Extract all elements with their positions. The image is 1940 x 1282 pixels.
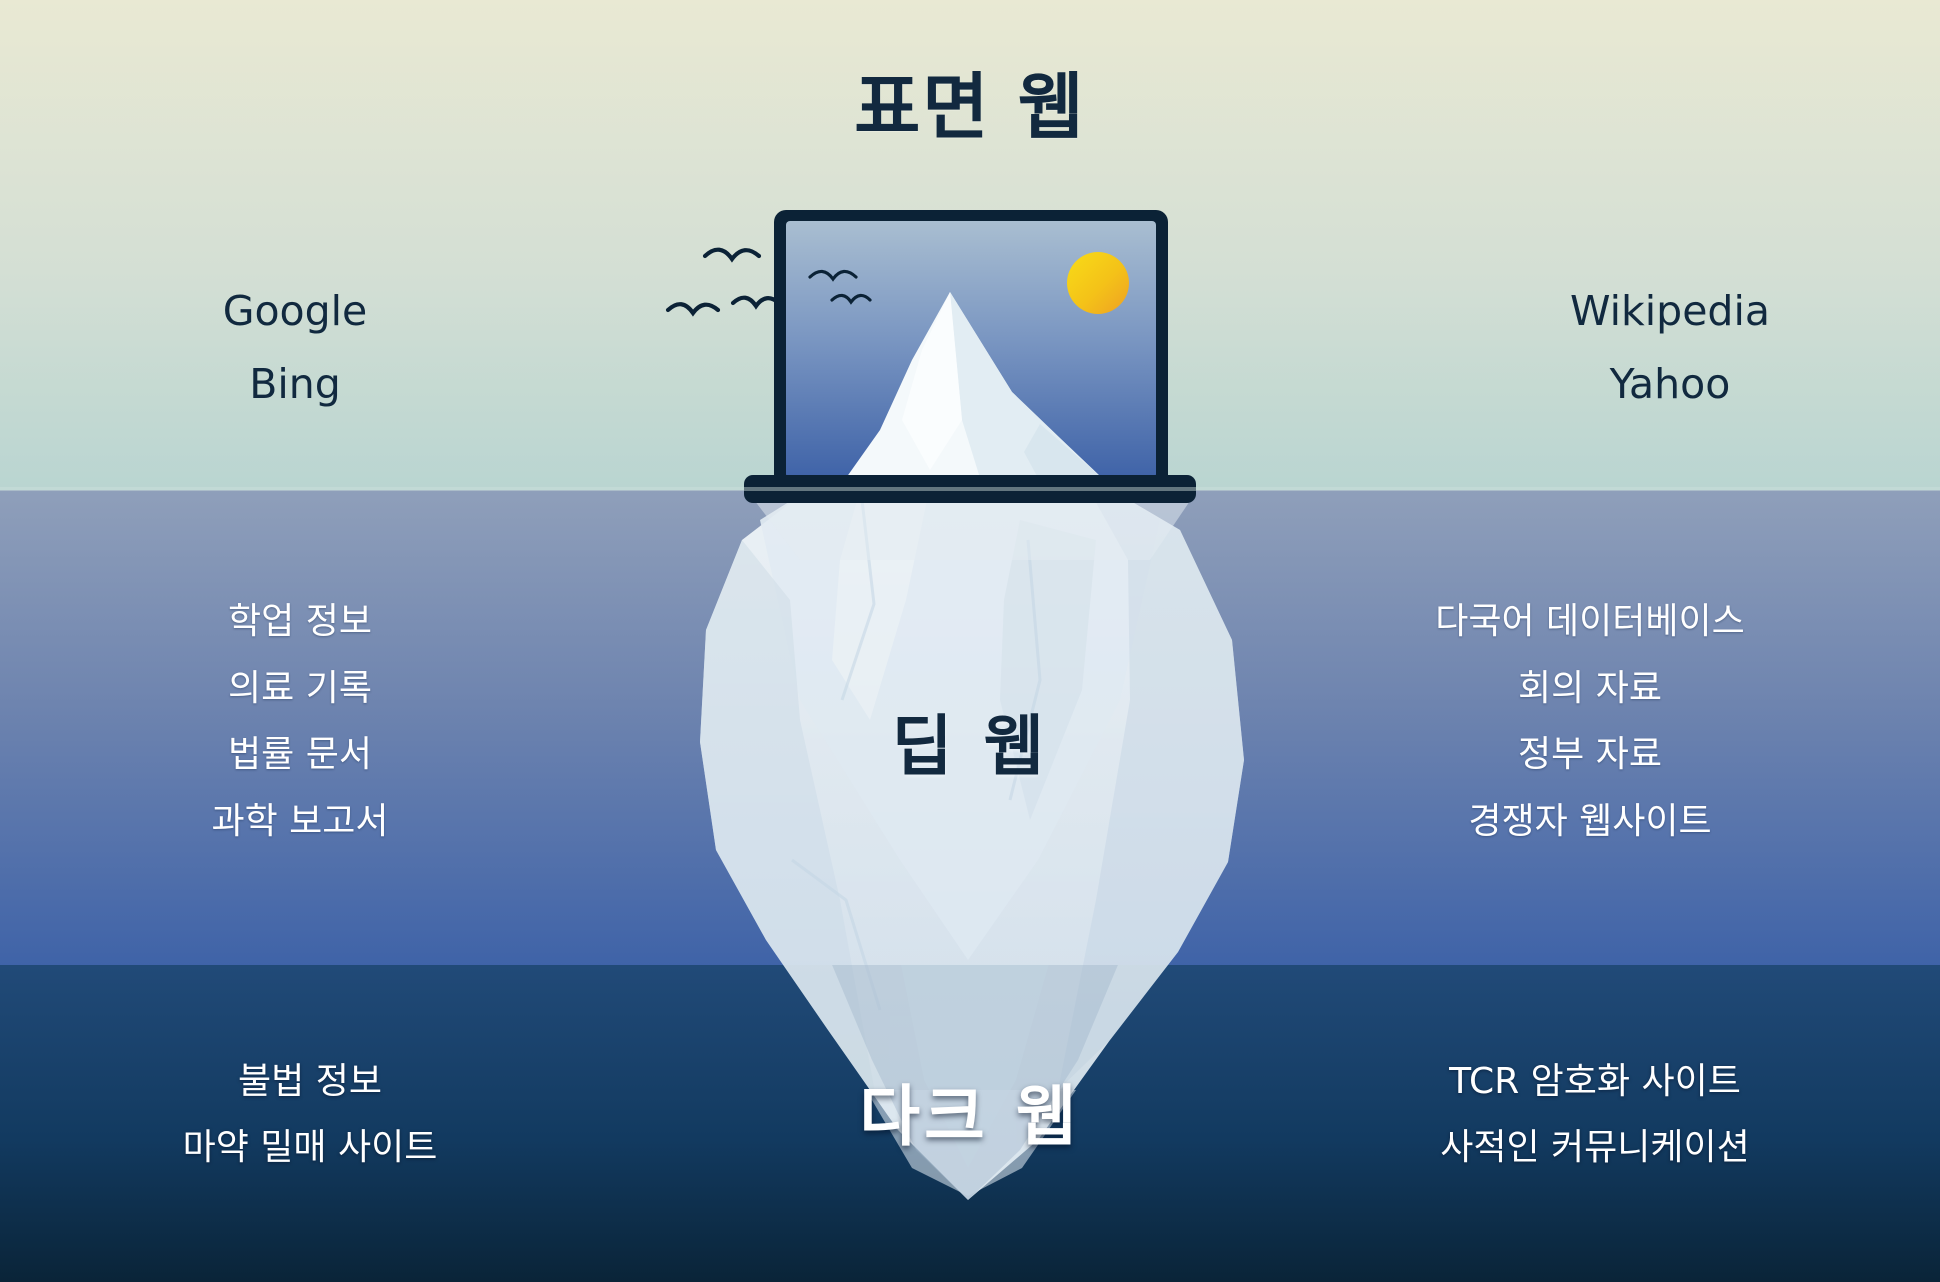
list-item: TCR 암호화 사이트 <box>1380 1062 1810 1102</box>
infographic-canvas: 표면 웹 Google Bing Wikipedia Yahoo 학업 정보 의… <box>0 0 1940 1282</box>
dark-web-right-labels: TCR 암호화 사이트 사적인 커뮤니케이션 <box>1380 1062 1810 1193</box>
list-item: 사적인 커뮤니케이션 <box>1380 1128 1810 1168</box>
list-item: Wikipedia <box>1520 282 1820 341</box>
deep-web-right-labels: 다국어 데이터베이스 회의 자료 정부 자료 경쟁자 웹사이트 <box>1390 602 1790 868</box>
list-item: 회의 자료 <box>1390 669 1790 709</box>
waterline <box>0 487 1940 491</box>
surface-web-right-labels: Wikipedia Yahoo <box>1520 282 1820 429</box>
list-item: 경쟁자 웹사이트 <box>1390 802 1790 842</box>
list-item: Bing <box>170 355 420 414</box>
sun-icon <box>1067 252 1129 314</box>
list-item: 과학 보고서 <box>140 802 460 842</box>
list-item: 정부 자료 <box>1390 735 1790 775</box>
list-item: Google <box>170 282 420 341</box>
surface-web-left-labels: Google Bing <box>170 282 420 429</box>
list-item: 학업 정보 <box>140 602 460 642</box>
laptop-screen <box>786 221 1156 478</box>
laptop-illustration <box>744 210 1196 560</box>
list-item: 다국어 데이터베이스 <box>1390 602 1790 642</box>
page-title-surface-web: 표면 웹 <box>0 48 1940 153</box>
list-item: Yahoo <box>1520 355 1820 414</box>
